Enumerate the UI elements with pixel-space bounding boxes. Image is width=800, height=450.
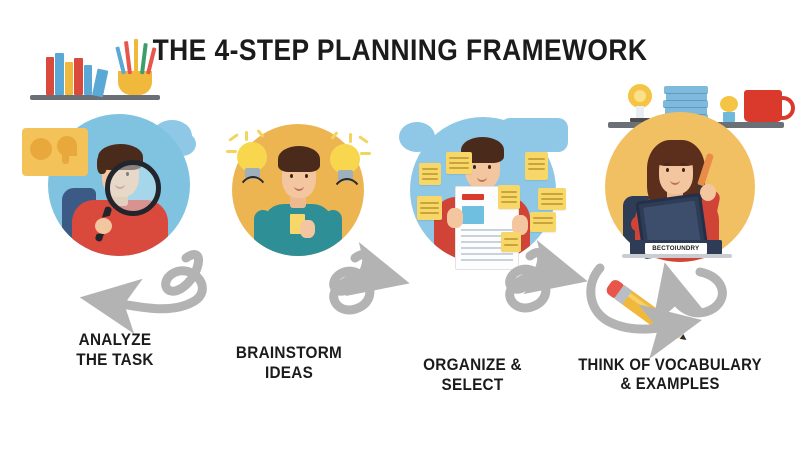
document-line (461, 229, 513, 231)
light-ray-icon (358, 135, 369, 144)
character-eye (305, 174, 308, 178)
desk-nameplate-label: BECTOIUNDRY (652, 245, 699, 252)
light-ray-icon (360, 152, 371, 155)
document-header-bar (462, 194, 484, 200)
sticky-note-icon (525, 152, 548, 180)
character-eye (488, 165, 491, 169)
document-image-block (462, 206, 484, 224)
large-pencil-icon (601, 274, 696, 353)
document-line (461, 253, 513, 255)
character-eye (473, 165, 476, 169)
step-label-1: ANALYZE THE TASK (35, 330, 195, 370)
character-eye (682, 168, 685, 172)
character-hand (300, 220, 315, 238)
sticky-note-icon (530, 212, 556, 232)
light-ray-icon (226, 150, 237, 153)
bulb-wire (330, 178, 364, 224)
character-hand (447, 208, 463, 228)
character-brow (303, 169, 310, 171)
sticky-note-icon (419, 163, 441, 185)
pencil-cup-icon (118, 71, 152, 95)
character-hair (97, 154, 107, 174)
mug-icon (744, 90, 782, 122)
bookshelf-left (30, 40, 160, 100)
small-lamp-base-icon (723, 112, 735, 122)
speech-bubble-board (22, 128, 88, 176)
pencil-icon (134, 39, 138, 74)
lamp-glow-icon (634, 90, 646, 102)
light-ray-icon (245, 131, 248, 141)
desk-base (622, 254, 732, 258)
step-label-2: BRAINSTORM IDEAS (207, 343, 371, 383)
poster-canvas: THE 4-STEP PLANNING FRAMEWORK (0, 0, 800, 450)
magnifying-glass-icon (105, 160, 161, 216)
book-stack-icon (664, 86, 708, 94)
sticky-note-icon (498, 185, 520, 209)
sticky-note-icon (417, 196, 442, 220)
document-line (461, 259, 513, 261)
pencil-barrel (622, 291, 677, 338)
character-brow (664, 163, 671, 165)
step-label-4: THINK OF VOCABULARY & EXAMPLES (558, 356, 783, 395)
sticky-note-icon (446, 152, 472, 174)
flow-arrow-2 (334, 255, 380, 310)
character-eye (666, 168, 669, 172)
speech-bubble-icon (30, 138, 52, 160)
character-brow (486, 160, 493, 162)
sticky-note-icon (501, 232, 521, 252)
character-hair (655, 142, 697, 166)
small-lamp-icon (720, 96, 738, 112)
book-icon (46, 57, 54, 95)
flow-arrow-1 (110, 255, 202, 309)
light-ray-icon (349, 133, 352, 143)
pencil-icon (124, 41, 132, 74)
book-icon (84, 65, 92, 95)
book-icon (65, 62, 73, 95)
character-brow (288, 169, 295, 171)
sticky-note-icon (538, 188, 566, 210)
character-hair (278, 146, 320, 172)
book-stack-icon (666, 93, 707, 101)
character-hand (95, 218, 112, 234)
book-icon (55, 53, 64, 95)
step-label-3: ORGANIZE & SELECT (394, 355, 552, 395)
book-icon (92, 69, 108, 98)
character-brow (680, 163, 687, 165)
flow-arrow-4 (672, 272, 722, 313)
speech-bubble-icon (62, 152, 69, 164)
desk-nameplate: BECTOIUNDRY (645, 243, 707, 254)
book-stack-icon (663, 100, 708, 108)
light-ray-icon (228, 133, 239, 142)
character-eye (290, 174, 293, 178)
bulb-wire (236, 176, 270, 224)
book-icon (74, 58, 83, 95)
character-brow (471, 160, 478, 162)
